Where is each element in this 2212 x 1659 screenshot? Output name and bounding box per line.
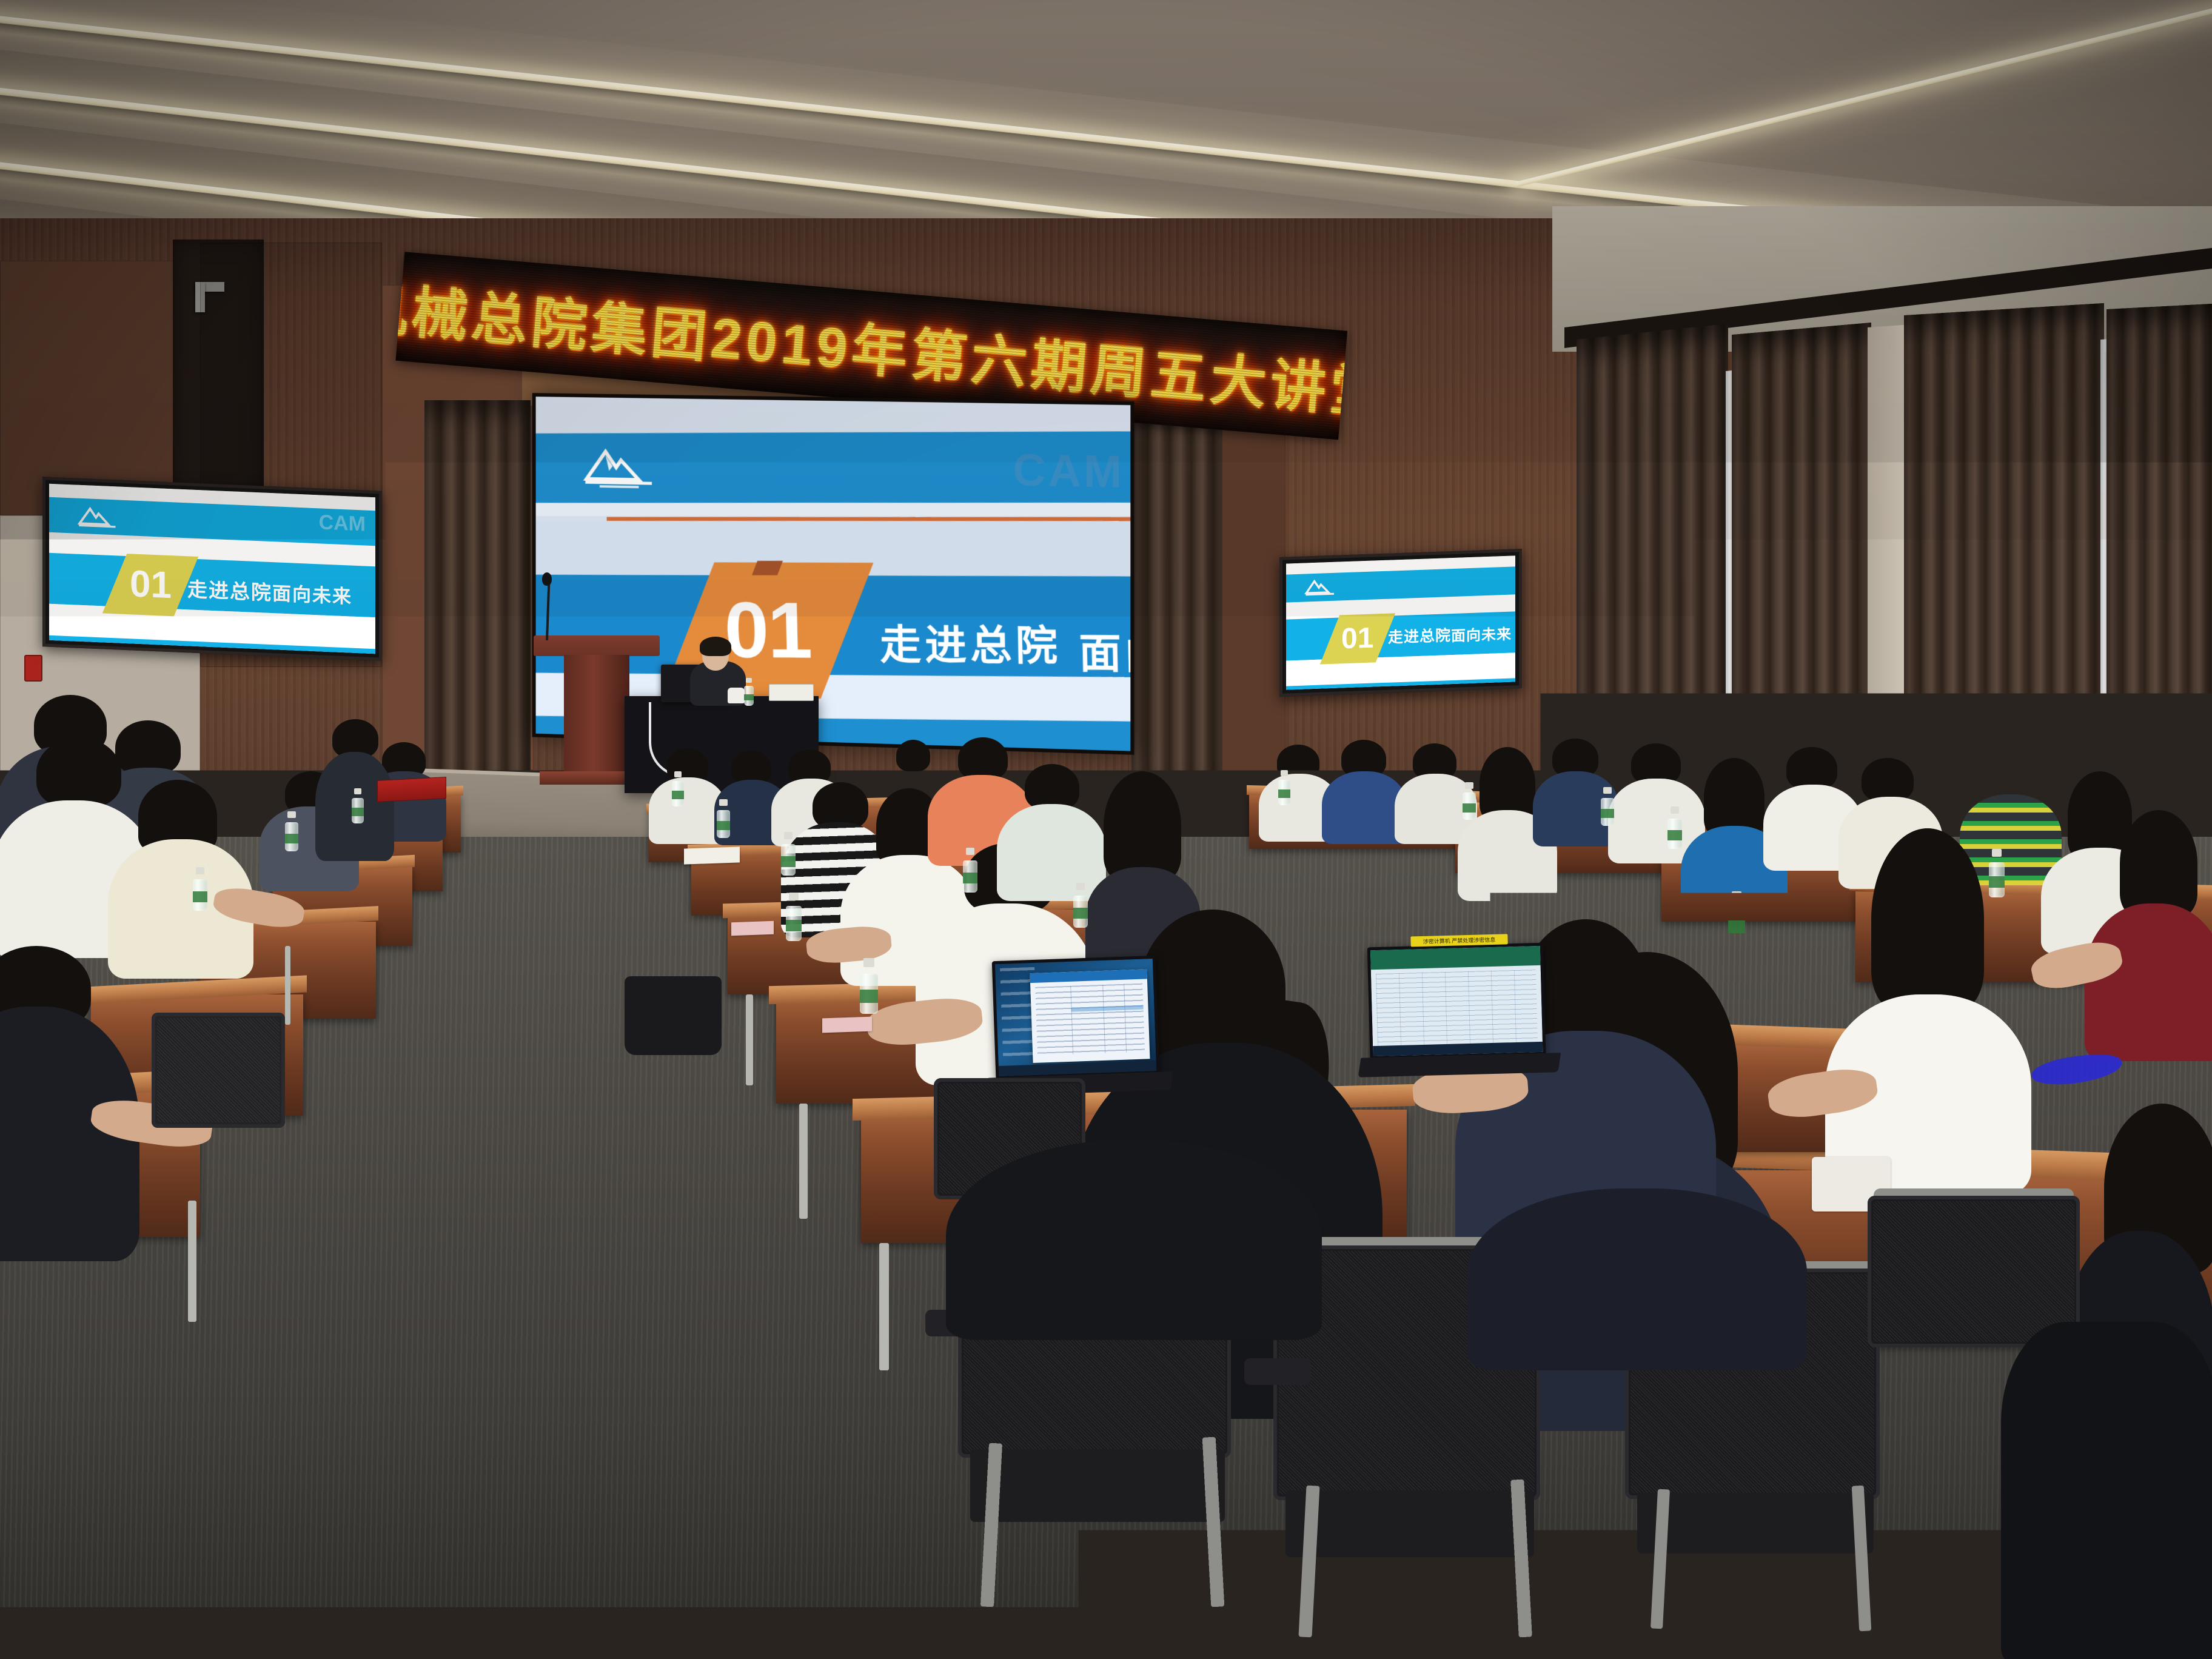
podium-top — [534, 635, 660, 656]
water-bottle — [717, 799, 730, 838]
right-wall-monitor: 01 走进总院 面向未来 — [1279, 549, 1522, 697]
attendee-hair — [1871, 828, 1984, 1010]
water-bottle — [1667, 806, 1682, 849]
laptop-screen[interactable] — [995, 959, 1156, 1076]
right-monitor-title-secondary: 面向未来 — [1451, 622, 1512, 645]
document-list-window[interactable] — [1030, 969, 1150, 1063]
slide-watermark: CAM — [1013, 444, 1124, 498]
stage-curtain-right — [1131, 400, 1222, 776]
desk-leg — [799, 1104, 808, 1219]
laptop-lid — [1367, 943, 1546, 1060]
window-rows — [1035, 984, 1145, 1056]
left-monitor-title-secondary: 面向未来 — [272, 578, 352, 609]
attendee-foreground-left-dark — [0, 1225, 230, 1659]
attendee-torso — [2085, 903, 2212, 1061]
lecture-hall-photo: 机械总院集团2019年第六期周五大讲堂 — [0, 0, 2212, 1659]
chair-back — [152, 1013, 285, 1128]
pink-note — [731, 921, 774, 936]
right-monitor-section-number: 01 — [1341, 624, 1373, 654]
stage-wall-socket-plate — [769, 684, 814, 701]
desk-leg — [879, 1243, 889, 1370]
chair-seat — [970, 1449, 1225, 1522]
attendee-hair — [1104, 771, 1181, 880]
slide-band-light-1 — [536, 503, 1131, 516]
left-monitor-title-primary: 走进总院 — [187, 573, 272, 606]
water-bottle — [285, 811, 298, 851]
red-gift-box — [377, 777, 446, 802]
left-wall-monitor: CAM 01 走进总院 面向未来 — [42, 477, 382, 660]
right-monitor-slide: 01 走进总院 面向未来 — [1286, 555, 1515, 689]
water-bottle — [672, 771, 684, 806]
water-bottle — [963, 848, 977, 893]
desk-leg — [285, 946, 290, 1025]
water-bottle — [1463, 782, 1476, 820]
white-tea-cup — [728, 688, 745, 703]
water-bottle — [781, 832, 796, 876]
chair-armrest — [1244, 1358, 1311, 1385]
presenter-hair — [700, 637, 731, 656]
pink-note — [822, 1017, 872, 1033]
left-monitor-section-number: 01 — [130, 565, 172, 605]
red-fire-alarm-call-point — [24, 655, 42, 682]
laptop-lid — [992, 956, 1160, 1079]
wall-panel-left-upper — [0, 261, 200, 515]
spreadsheet-columns — [1376, 970, 1537, 1048]
audience-laptop-excel: 涉密计算机 严禁处理涉密信息 — [1367, 942, 1571, 1099]
water-bottle — [193, 867, 207, 911]
mountain-peak-logo — [582, 443, 659, 491]
desk-leg — [746, 994, 753, 1085]
slide-title-primary: 走进总院 — [879, 611, 1062, 672]
right-monitor-title-primary: 走进总院 — [1388, 623, 1451, 648]
chair-seat — [1637, 1493, 1874, 1553]
white-notepad — [684, 846, 740, 864]
attendee-hair — [36, 737, 121, 808]
attendee-hair — [1786, 747, 1837, 789]
stage-curtain-left — [424, 400, 531, 776]
mountain-peak-logo-left-monitor — [77, 503, 119, 532]
left-monitor-slide: CAM 01 走进总院 面向未来 — [49, 484, 375, 654]
presenter-water-bottle — [744, 678, 754, 706]
water-bottle — [352, 788, 364, 823]
chair-seat — [1285, 1490, 1534, 1557]
laptop-screen[interactable] — [1370, 946, 1543, 1056]
attendee-hair — [1862, 758, 1914, 802]
left-monitor-watermark: CAM — [319, 511, 366, 536]
water-bottle — [1073, 883, 1088, 928]
attendee-hair — [1983, 757, 2034, 799]
mountain-peak-logo-right-monitor — [1304, 577, 1337, 598]
attendee-torso — [997, 804, 1106, 901]
black-backpack — [625, 976, 722, 1055]
podium-column — [564, 655, 629, 776]
water-bottle — [786, 893, 802, 941]
water-bottle — [1728, 891, 1745, 943]
water-bottle — [1989, 849, 2005, 897]
chair-back — [1868, 1196, 2080, 1347]
attendee-hair — [115, 720, 181, 775]
water-bottle — [1278, 770, 1290, 805]
attendee-foreground-black — [946, 1140, 1322, 1340]
gooseneck-microphone-head — [542, 572, 552, 586]
water-bottle — [1601, 787, 1614, 826]
attendee-foreground-far-right — [2001, 1322, 2212, 1659]
attendee-torso — [1322, 771, 1407, 844]
slide-section-number: 01 — [723, 591, 812, 670]
water-bottle — [860, 958, 878, 1014]
attendee-hair-bun — [896, 740, 930, 771]
attendee-foreground-right — [1467, 1188, 1807, 1370]
attendee-hair — [2120, 810, 2197, 917]
attendee-hair — [958, 737, 1008, 780]
ceiling-light-strip-6 — [1515, 0, 2212, 187]
attendee-hair — [1704, 758, 1765, 837]
attendee-hair — [1025, 764, 1079, 810]
slide-title-secondary: 面向未来 — [1079, 620, 1131, 682]
